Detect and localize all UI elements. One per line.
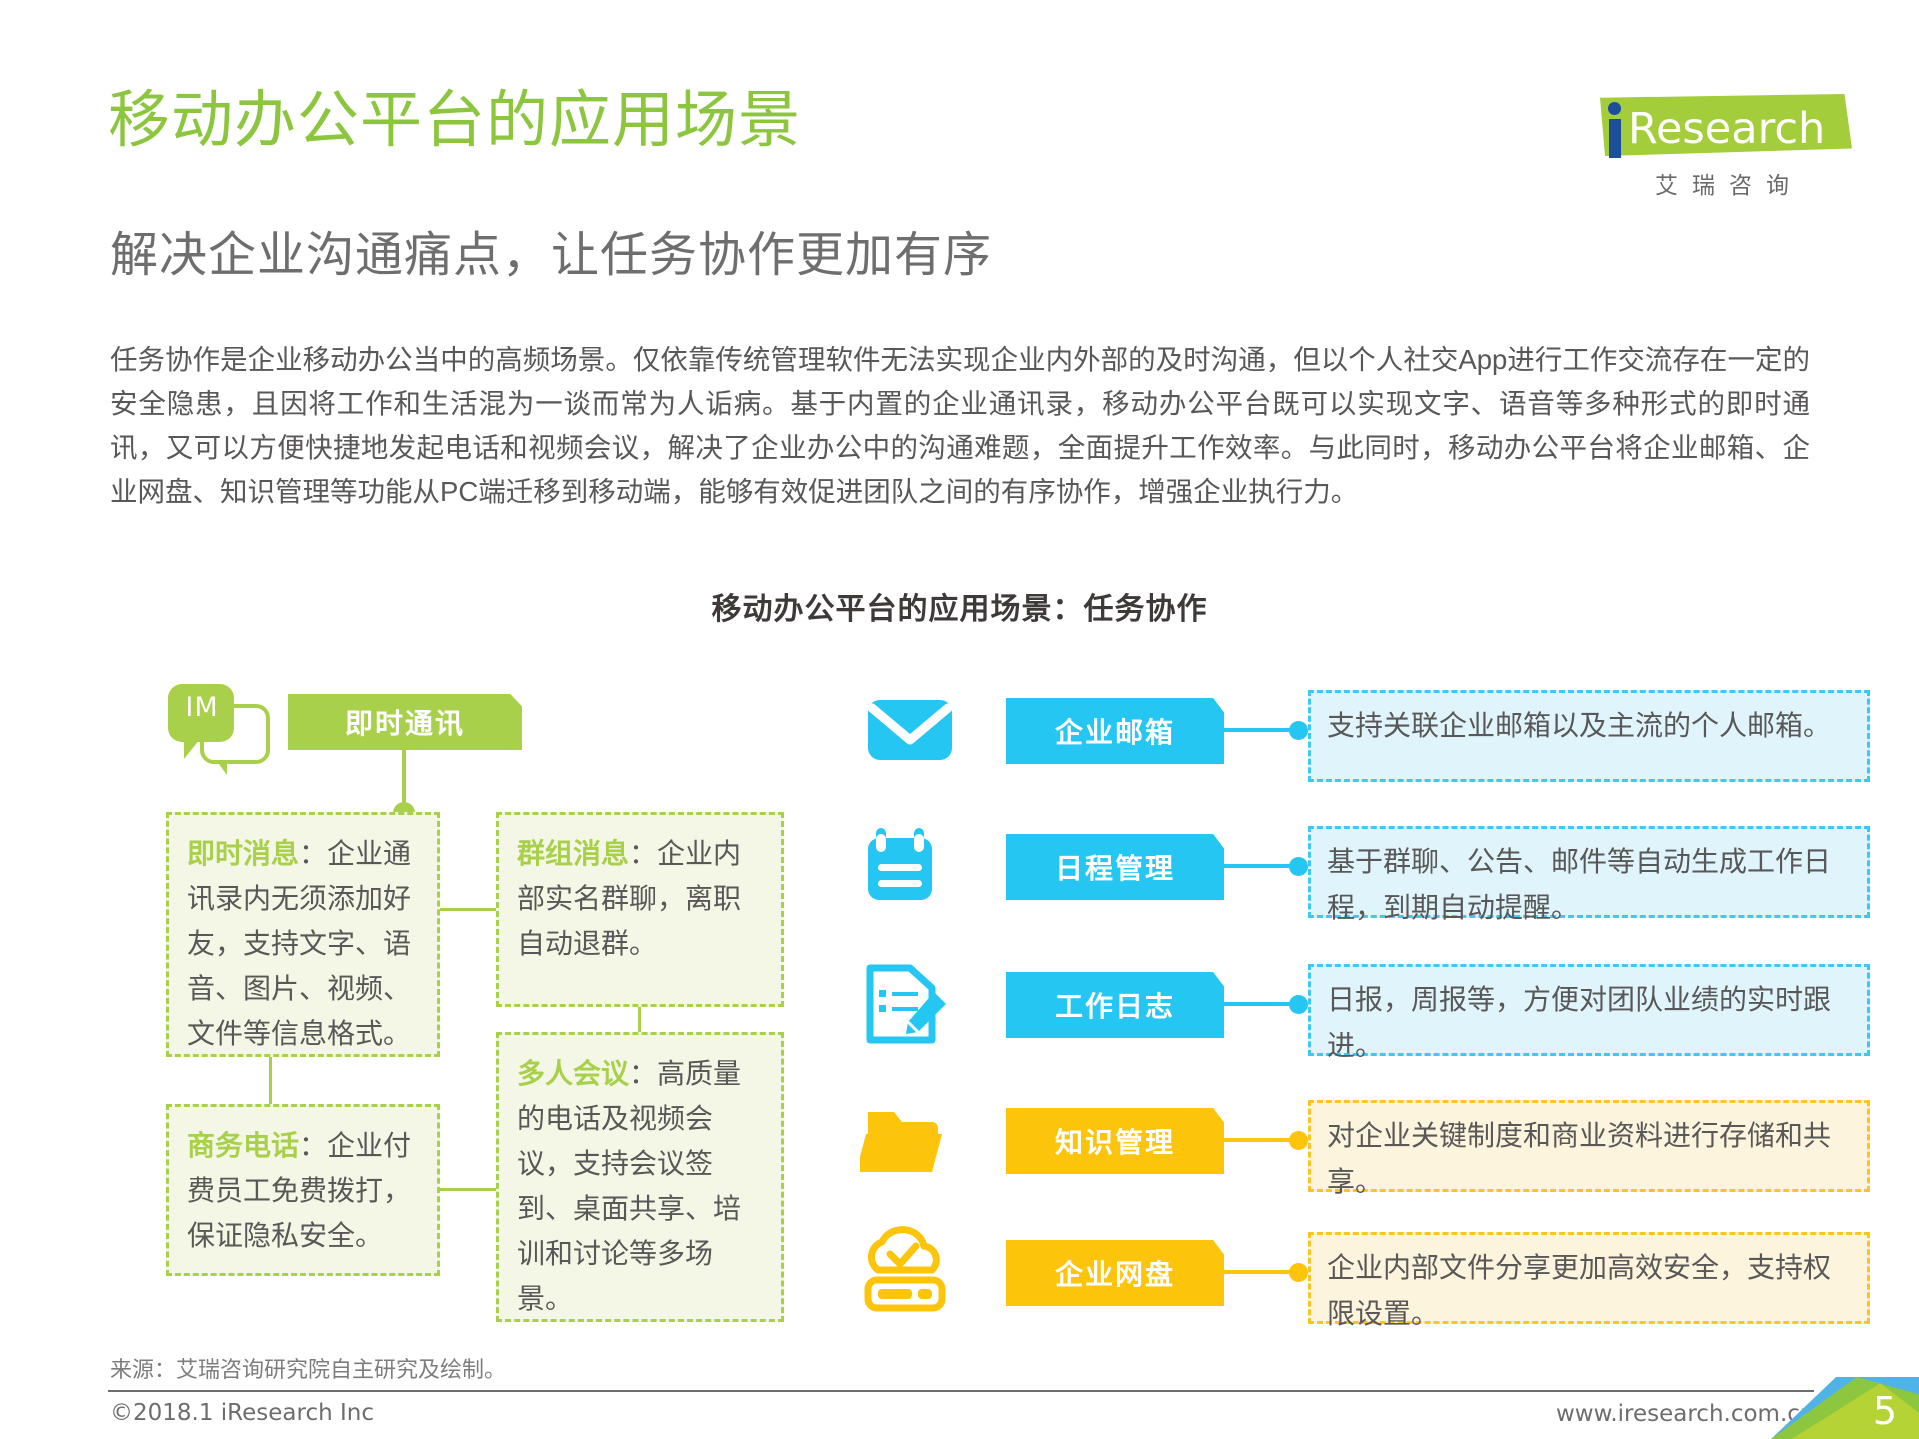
feature-box-text: 企业通讯录内无须添加好友，支持文字、语音、图片、视频、文件等信息格式。 [187,838,411,1049]
desc-enterprise-email: 支持关联企业邮箱以及主流的个人邮箱。 [1308,690,1870,782]
connector-horizontal-bottom [440,1188,496,1191]
connector-horizontal-top [440,908,496,911]
connector-line [1224,728,1296,732]
feature-box-sep: ： [299,1130,327,1161]
logo-chinese-name: 艾瑞咨询 [1604,166,1854,200]
desc-work-log: 日报，周报等，方便对团队业绩的实时跟进。 [1308,964,1870,1056]
feature-row-knowledge: 知识管理 对企业关键制度和商业资料进行存储和共享。 [860,1094,1870,1190]
im-icon-label: IM [179,692,225,723]
envelope-icon [860,684,960,776]
logo-wordmark: Research [1628,104,1825,154]
tag-enterprise-cloud-drive[interactable]: 企业网盘 [1006,1240,1224,1306]
feature-row-worklog: 工作日志 日报，周报等，方便对团队业绩的实时跟进。 [860,958,1870,1054]
feature-box-title: 商务电话 [187,1130,299,1161]
connector-line [1224,1270,1296,1274]
connector-dot [1289,857,1308,876]
page-number: 5 [1873,1389,1897,1433]
document-pencil-icon-svg [860,958,960,1050]
tag-knowledge-management[interactable]: 知识管理 [1006,1108,1224,1174]
connector-line [1224,1002,1296,1006]
connector-line [1224,864,1296,868]
logo-i-dot-icon [1608,102,1621,115]
connector-dot [1289,1131,1308,1150]
copyright-text: ©2018.1 iResearch Inc [110,1400,374,1426]
source-note: 来源：艾瑞咨询研究院自主研究及绘制。 [110,1352,506,1384]
desc-schedule-management: 基于群聊、公告、邮件等自动生成工作日程，到期自动提醒。 [1308,826,1870,918]
desc-enterprise-cloud-drive: 企业内部文件分享更加高效安全，支持权限设置。 [1308,1232,1870,1324]
figure-title: 移动办公平台的应用场景：任务协作 [0,584,1919,628]
feature-box-title: 多人会议 [517,1058,629,1089]
im-bubble-front-icon: IM [168,684,234,742]
page-subtitle: 解决企业沟通痛点，让任务协作更加有序 [110,228,992,284]
feature-box-instant-message: 即时消息：企业通讯录内无须添加好友，支持文字、语音、图片、视频、文件等信息格式。 [166,812,440,1057]
folder-icon [860,1094,960,1186]
tag-instant-messaging[interactable]: 即时通讯 [288,694,522,750]
feature-box-group-message: 群组消息：企业内部实名群聊，离职自动退群。 [496,812,784,1007]
footer-divider [108,1390,1814,1392]
tag-enterprise-email[interactable]: 企业邮箱 [1006,698,1224,764]
desc-knowledge-management: 对企业关键制度和商业资料进行存储和共享。 [1308,1100,1870,1192]
connector-dot [1289,1263,1308,1282]
slide-page: 移动办公平台的应用场景 解决企业沟通痛点，让任务协作更加有序 任务协作是企业移动… [0,0,1919,1439]
feature-row-schedule: 日程管理 基于群聊、公告、邮件等自动生成工作日程，到期自动提醒。 [860,820,1870,916]
connector-dot [1289,721,1308,740]
connector-line [1224,1138,1296,1142]
page-title: 移动办公平台的应用场景 [108,85,801,157]
connector-vertical-left [269,1057,272,1104]
envelope-icon-svg [860,684,960,776]
logo-i-stem-icon [1609,119,1621,158]
tag-work-log[interactable]: 工作日志 [1006,972,1224,1038]
iresearch-logo: Research 艾瑞咨询 [1588,78,1856,198]
body-paragraph: 任务协作是企业移动办公当中的高频场景。仅依靠传统管理软件无法实现企业内外部的及时… [110,338,1810,514]
feature-box-text: 高质量的电话及视频会议，支持会议签到、桌面共享、培训和讨论等多场景。 [517,1058,741,1314]
cloud-drive-icon-svg [860,1226,960,1318]
folder-icon-svg [860,1094,960,1186]
im-chat-icon: IM [168,684,264,780]
feature-row-cloud-drive: 企业网盘 企业内部文件分享更加高效安全，支持权限设置。 [860,1226,1870,1322]
connector-dot [1289,995,1308,1014]
feature-box-sep: ： [629,1058,657,1089]
calendar-icon [860,820,960,912]
connector-vertical-right [638,1007,641,1032]
tag-schedule-management[interactable]: 日程管理 [1006,834,1224,900]
calendar-icon-svg [860,820,960,912]
feature-box-multi-conference: 多人会议：高质量的电话及视频会议，支持会议签到、桌面共享、培训和讨论等多场景。 [496,1032,784,1322]
feature-box-sep: ： [299,838,327,869]
feature-box-title: 群组消息 [517,838,629,869]
document-pencil-icon [860,958,960,1050]
cloud-drive-icon [860,1226,960,1318]
feature-box-sep: ： [629,838,657,869]
feature-box-business-call: 商务电话：企业付费员工免费拨打，保证隐私安全。 [166,1104,440,1276]
feature-row-email: 企业邮箱 支持关联企业邮箱以及主流的个人邮箱。 [860,684,1870,780]
feature-box-title: 即时消息 [187,838,299,869]
